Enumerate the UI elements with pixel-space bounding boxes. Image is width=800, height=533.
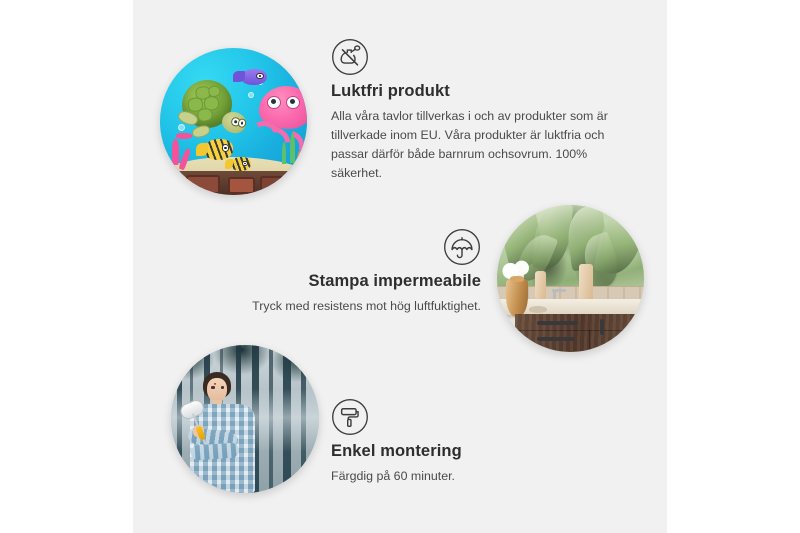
octopus-icon <box>245 86 307 157</box>
soap-dispenser <box>579 264 592 301</box>
umbrella-icon <box>443 228 481 266</box>
screenshot-root: Luktfri produkt Alla våra tavlor tillver… <box>0 0 800 533</box>
feature-title: Enkel montering <box>331 442 591 462</box>
woman-figure <box>183 372 269 493</box>
turtle-icon <box>178 77 246 139</box>
paint-roller-icon <box>331 398 369 436</box>
feature-title: Stampa impermeabile <box>211 272 481 292</box>
feature-description: Alla våra tavlor tillverkas i och av pro… <box>331 107 621 184</box>
drawer-divider <box>515 330 644 331</box>
feature-easy-installation: Enkel montering Färgdig på 60 minuter. <box>331 398 591 486</box>
drawer-handle <box>537 321 578 325</box>
treasure-row <box>160 171 307 195</box>
cabinet-divider <box>589 330 590 352</box>
fish-icon <box>204 139 233 160</box>
feature-waterproof: Stampa impermeabile Tryck med resistens … <box>211 228 481 316</box>
bathroom-leaf-wallpaper-photo <box>497 205 644 352</box>
underwater-scene <box>160 48 307 195</box>
face <box>207 378 228 402</box>
bathroom-scene <box>497 205 644 352</box>
vase-icon <box>506 279 528 317</box>
cabinet-handle <box>600 319 604 335</box>
feature-description: Tryck med resistens mot hög luftfuktighe… <box>211 297 481 316</box>
coral-icon <box>160 150 172 171</box>
fish-icon <box>231 157 252 172</box>
soap-dispenser <box>535 271 545 299</box>
soap-dish <box>529 306 547 313</box>
feature-description: Färgdig på 60 minuter. <box>331 467 591 486</box>
feature-title: Luktfri produkt <box>331 82 621 102</box>
content-panel: Luktfri produkt Alla våra tavlor tillver… <box>133 0 667 533</box>
vanity-cabinet <box>515 314 644 352</box>
coral-icon <box>172 139 179 165</box>
drawer-handle <box>537 337 576 341</box>
no-fragrance-icon <box>331 38 369 76</box>
woman-with-paint-roller-forest-photo <box>171 345 319 493</box>
feature-odourless: Luktfri produkt Alla våra tavlor tillver… <box>331 38 621 184</box>
forest-scene <box>171 345 319 493</box>
underwater-kids-mural-photo <box>160 48 307 195</box>
coral-icon <box>176 133 192 139</box>
coral-icon <box>297 151 304 173</box>
